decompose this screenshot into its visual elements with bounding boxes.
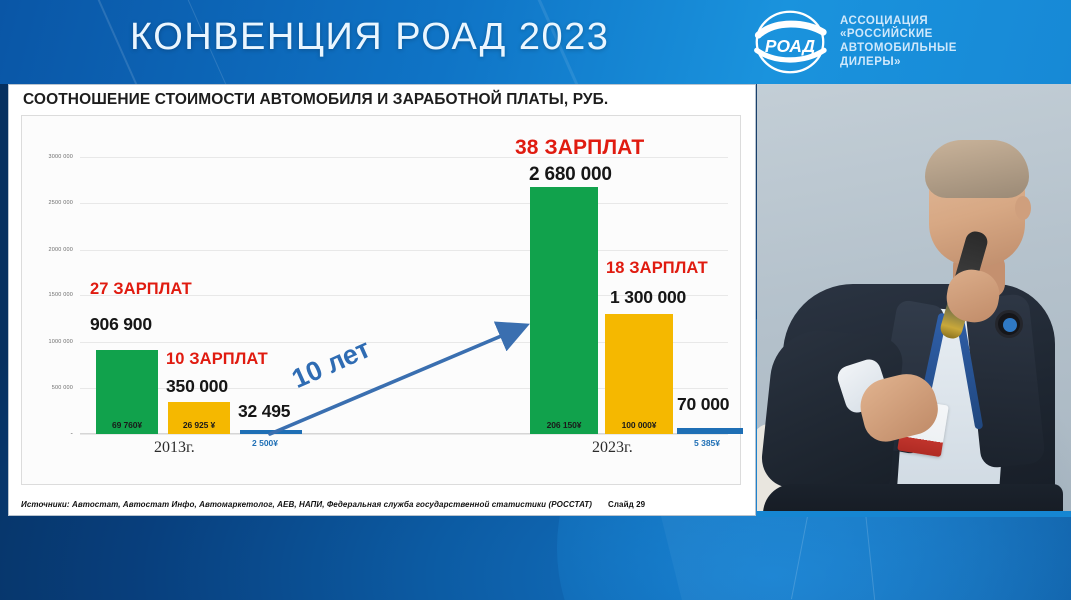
association-name: АССОЦИАЦИЯ «РОССИЙСКИЕ АВТОМОБИЛЬНЫЕ ДИЛ… xyxy=(840,15,957,69)
association-line-2: АВТОМОБИЛЬНЫЕ xyxy=(840,42,957,56)
bar-value-yen-2023-new: 206 150¥ xyxy=(530,420,598,430)
chart-area: 3000 000 2500 000 2000 000 1500 000 1000… xyxy=(21,115,741,485)
gridline: 2500 000 xyxy=(80,203,728,204)
y-axis-tick-label: 2500 000 xyxy=(48,200,73,206)
gridline: 2000 000 xyxy=(80,250,728,251)
bar-2023-new-car: 206 150¥ xyxy=(530,187,598,434)
gridline: - xyxy=(80,434,728,435)
x-axis-category-2023: 2023г. xyxy=(592,439,633,457)
bar-2013-salary xyxy=(240,430,302,434)
road-logo-icon: РОАД xyxy=(752,8,828,76)
header-band: КОНВЕНЦИЯ РОАД 2023 РОАД АССОЦИАЦИЯ «РОС… xyxy=(0,0,1071,84)
value-label-2013-salary: 32 495 xyxy=(238,401,290,422)
speaker-hair xyxy=(925,140,1029,198)
slide-title: СООТНОШЕНИЕ СТОИМОСТИ АВТОМОБИЛЯ И ЗАРАБ… xyxy=(23,91,608,109)
salary-count-2013-used: 10 ЗАРПЛАТ xyxy=(166,350,268,369)
source-strip: Источники: Автостат, Автостат Инфо, Авто… xyxy=(8,494,756,516)
wristwatch xyxy=(995,310,1023,338)
x-axis-category-2013: 2013г. xyxy=(154,439,195,457)
value-label-2023-used: 1 300 000 xyxy=(610,287,686,308)
y-axis-tick-label: 3000 000 xyxy=(48,154,73,160)
y-axis-tick-label: 1500 000 xyxy=(48,292,73,298)
salary-count-2023-new: 38 ЗАРПЛАТ xyxy=(515,136,644,160)
source-text: Источники: Автостат, Автостат Инфо, Авто… xyxy=(21,500,592,509)
bar-value-yen-2013-salary: 2 500¥ xyxy=(252,438,278,448)
bar-2023-used-car: 100 000¥ xyxy=(605,314,673,434)
bar-value-yen-2013-new: 69 760¥ xyxy=(96,420,158,430)
bar-value-yen-2023-salary: 5 385¥ xyxy=(694,438,720,448)
bar-2013-used-car: 26 925 ¥ xyxy=(168,402,230,434)
association-line-3: ДИЛЕРЫ» xyxy=(840,56,957,70)
association-line-0: АССОЦИАЦИЯ xyxy=(840,15,957,29)
salary-count-2023-used: 18 ЗАРПЛАТ xyxy=(606,259,708,278)
slide-number: Слайд 29 xyxy=(608,500,645,509)
page-title: КОНВЕНЦИЯ РОАД 2023 xyxy=(130,16,609,59)
bar-2023-salary xyxy=(677,428,743,435)
chart-plot: 3000 000 2500 000 2000 000 1500 000 1000… xyxy=(80,134,728,434)
brand-logo-block: РОАД АССОЦИАЦИЯ «РОССИЙСКИЕ АВТОМОБИЛЬНЫ… xyxy=(752,8,957,76)
bar-2013-new-car: 69 760¥ xyxy=(96,350,158,434)
salary-count-2013-new: 27 ЗАРПЛАТ xyxy=(90,280,192,299)
value-label-2013-used: 350 000 xyxy=(166,376,228,397)
background-line-2 xyxy=(865,515,875,600)
bar-value-yen-2013-used: 26 925 ¥ xyxy=(168,420,230,430)
svg-text:РОАД: РОАД xyxy=(765,36,816,56)
speaker-ear xyxy=(1015,196,1031,220)
association-line-1: «РОССИЙСКИЕ xyxy=(840,28,957,42)
value-label-2013-new: 906 900 xyxy=(90,314,152,335)
y-axis-tick-label: 2000 000 xyxy=(48,247,73,253)
value-label-2023-salary: 70 000 xyxy=(677,394,729,415)
y-axis-tick-label: - xyxy=(70,431,73,438)
speaker-video-panel xyxy=(757,84,1071,516)
video-bottom-strip xyxy=(757,511,1071,517)
broadcast-stage: КОНВЕНЦИЯ РОАД 2023 РОАД АССОЦИАЦИЯ «РОС… xyxy=(0,0,1071,600)
bar-value-yen-2023-used: 100 000¥ xyxy=(605,420,673,430)
value-label-2023-new: 2 680 000 xyxy=(529,164,612,186)
y-axis-tick-label: 500 000 xyxy=(52,385,73,391)
background-line-1 xyxy=(791,506,810,599)
presentation-slide: СООТНОШЕНИЕ СТОИМОСТИ АВТОМОБИЛЯ И ЗАРАБ… xyxy=(8,84,756,514)
y-axis-tick-label: 1000 000 xyxy=(48,339,73,345)
